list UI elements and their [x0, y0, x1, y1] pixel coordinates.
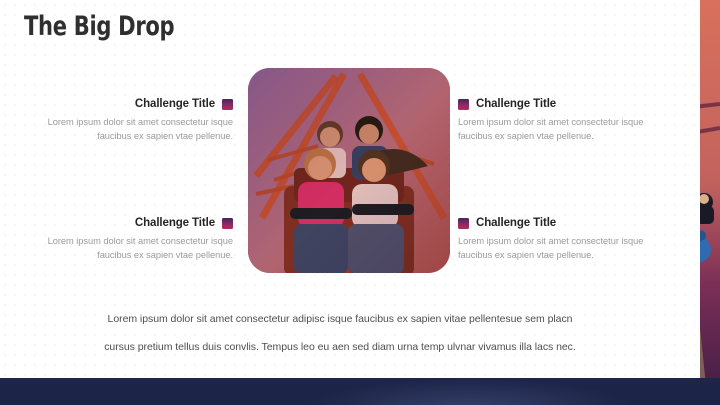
challenge-heading: Challenge Title: [458, 98, 663, 110]
challenge-heading: Challenge Title: [28, 217, 233, 229]
summary-line-2: cursus pretium tellus duis convlis. Temp…: [40, 333, 640, 361]
challenge-body-text: Lorem ipsum dolor sit amet consectetur i…: [458, 234, 663, 262]
challenge-block-top-right: Challenge Title Lorem ipsum dolor sit am…: [458, 98, 663, 143]
challenge-heading: Challenge Title: [458, 217, 663, 229]
challenge-heading: Challenge Title: [28, 98, 233, 110]
challenge-body-text: Lorem ipsum dolor sit amet consectetur i…: [458, 115, 663, 143]
challenge-title-label: Challenge Title: [476, 98, 556, 110]
challenge-block-top-left: Challenge Title Lorem ipsum dolor sit am…: [28, 98, 233, 143]
content-card: The Big Drop: [0, 0, 700, 378]
challenge-block-bottom-left: Challenge Title Lorem ipsum dolor sit am…: [28, 217, 233, 262]
challenge-title-label: Challenge Title: [476, 217, 556, 229]
challenge-body-text: Lorem ipsum dolor sit amet consectetur i…: [28, 115, 233, 143]
slide: The Big Drop: [0, 0, 720, 405]
challenge-title-label: Challenge Title: [135, 98, 215, 110]
summary-line-1: Lorem ipsum dolor sit amet consectetur a…: [40, 305, 640, 333]
page-title: The Big Drop: [24, 12, 174, 42]
challenge-body-text: Lorem ipsum dolor sit amet consectetur i…: [28, 234, 233, 262]
square-marker-icon: [222, 99, 233, 110]
photo-color-overlay: [248, 68, 450, 273]
center-photo: [248, 68, 450, 273]
summary-paragraph: Lorem ipsum dolor sit amet consectetur a…: [40, 305, 640, 361]
square-marker-icon: [222, 218, 233, 229]
square-marker-icon: [458, 218, 469, 229]
challenge-title-label: Challenge Title: [135, 217, 215, 229]
challenge-block-bottom-right: Challenge Title Lorem ipsum dolor sit am…: [458, 217, 663, 262]
footer-band: [0, 378, 720, 405]
footer-glow: [300, 378, 640, 405]
square-marker-icon: [458, 99, 469, 110]
